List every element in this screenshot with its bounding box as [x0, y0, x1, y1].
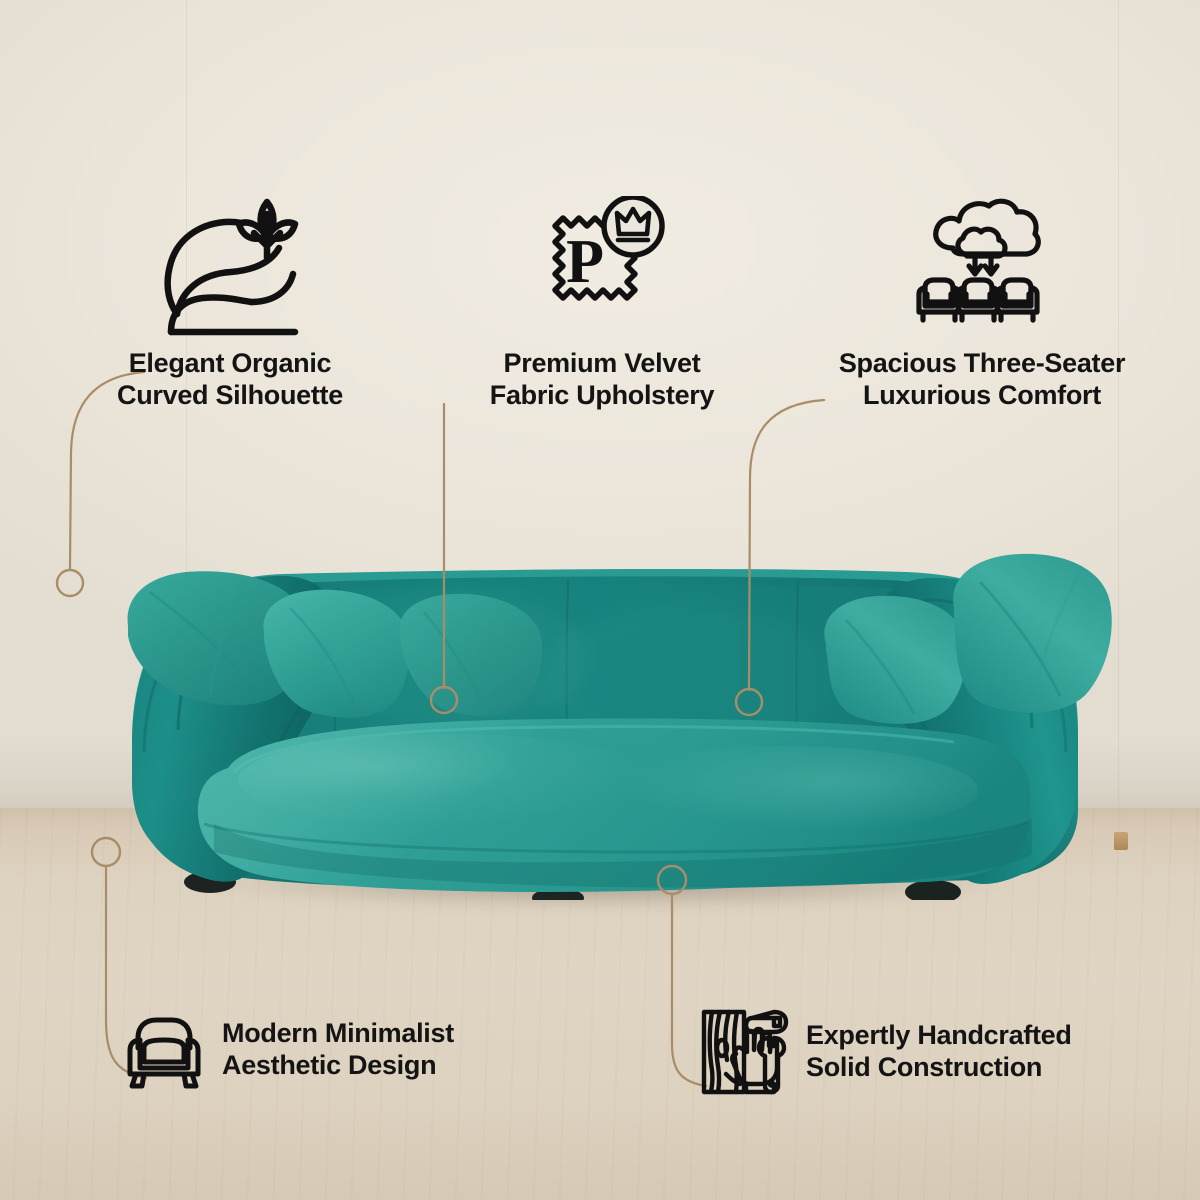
sofa-product-image [28, 480, 1180, 900]
wood-hand-wrench-icon [700, 1008, 790, 1096]
brand-logo-tag [1114, 832, 1128, 850]
feature-crafted-label: Expertly Handcrafted Solid Construction [806, 1020, 1072, 1083]
feature-minimal[interactable]: Modern Minimalist Aesthetic Design [122, 1008, 542, 1092]
feature-velvet[interactable]: P Premium Velvet Fabric Upholstery [452, 196, 752, 411]
armchair-outline-icon [122, 1008, 206, 1092]
infographic-canvas: Elegant Organic Curved Silhouette P Prem… [0, 0, 1200, 1200]
feature-minimal-label: Modern Minimalist Aesthetic Design [222, 1018, 454, 1081]
premium-fabric-swatch-crown-icon: P [452, 196, 752, 336]
throw-pillow-right-1 [824, 596, 966, 724]
feature-organic[interactable]: Elegant Organic Curved Silhouette [60, 196, 400, 411]
feature-seater[interactable]: Spacious Three-Seater Luxurious Comfort [812, 196, 1152, 411]
feature-organic-label: Elegant Organic Curved Silhouette [60, 348, 400, 411]
organic-leaf-curve-icon [60, 196, 400, 336]
feature-crafted[interactable]: Expertly Handcrafted Solid Construction [700, 1008, 1120, 1096]
throw-pillow-right-2 [953, 554, 1112, 713]
swatch-letter: P [566, 228, 604, 296]
feature-seater-label: Spacious Three-Seater Luxurious Comfort [812, 348, 1152, 411]
cloud-three-armchairs-icon [812, 196, 1152, 336]
feature-velvet-label: Premium Velvet Fabric Upholstery [452, 348, 752, 411]
